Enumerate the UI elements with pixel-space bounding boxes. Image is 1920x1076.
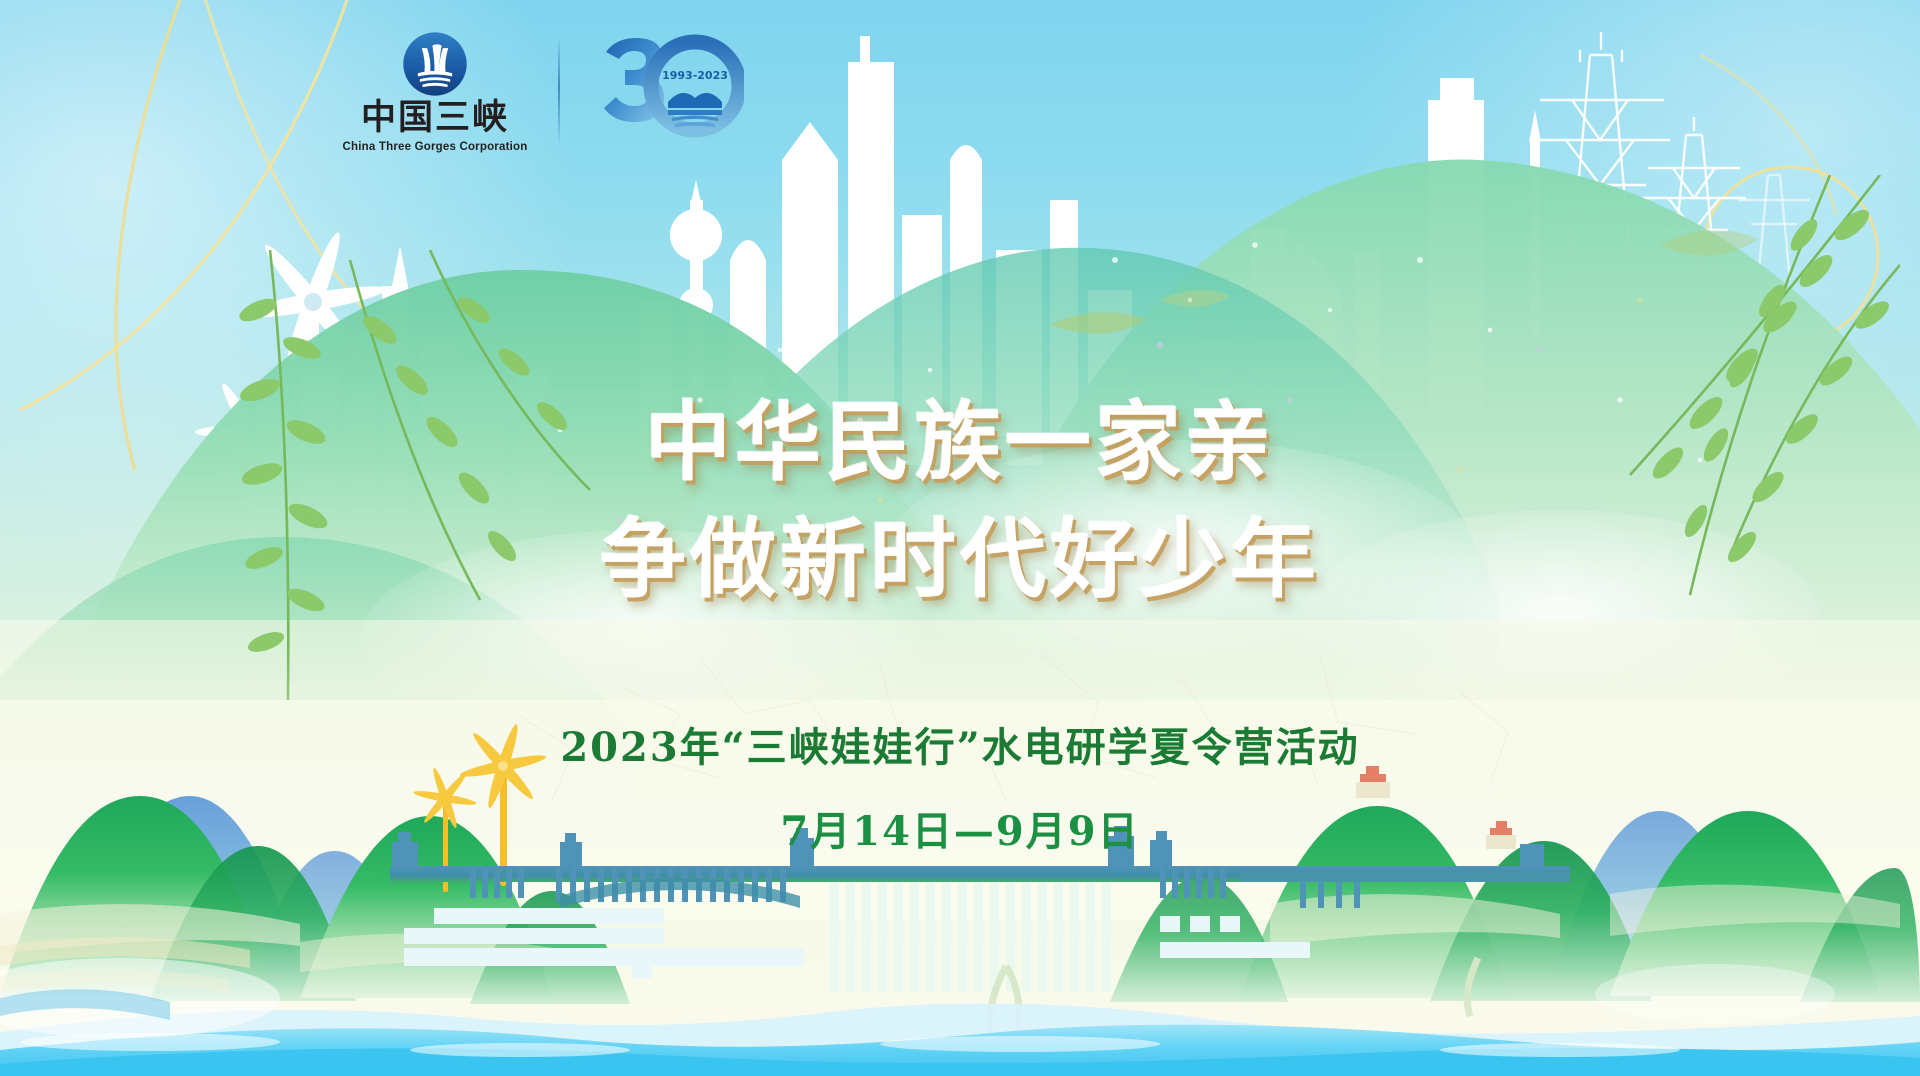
poster-canvas: 中国三峡 China Three Gorges Corporation bbox=[0, 0, 1920, 1076]
paper-texture bbox=[0, 646, 1920, 1076]
header-divider bbox=[558, 36, 560, 148]
ctg-logo[interactable]: 中国三峡 China Three Gorges Corporation bbox=[340, 31, 530, 153]
anniversary-years-text: 1993-2023 bbox=[662, 69, 728, 82]
ship-lock bbox=[990, 958, 1478, 1038]
event-subtitle: 2023年“三峡娃娃行”水电研学夏令营活动 bbox=[0, 715, 1920, 773]
river-foam bbox=[0, 1003, 1920, 1076]
three-gorges-dam-emblem-icon bbox=[402, 31, 468, 97]
ctg-name-cn: 中国三峡 bbox=[361, 101, 509, 136]
event-date-range: 7月14日—9月9日 bbox=[0, 799, 1920, 857]
main-title: 中华民族一家亲 争做新时代好少年 bbox=[0, 395, 1920, 609]
foreground-scene bbox=[0, 646, 1920, 1076]
subtitle-block: 2023年“三峡娃娃行”水电研学夏令营活动 7月14日—9月9日 bbox=[0, 715, 1920, 857]
anniversary-logo[interactable]: 1993-2023 bbox=[594, 30, 744, 153]
title-line-2: 争做新时代好少年 bbox=[0, 512, 1920, 609]
title-line-1: 中华民族一家亲 bbox=[0, 395, 1920, 492]
thirty-anniversary-icon: 1993-2023 bbox=[594, 30, 744, 148]
river-water bbox=[0, 1025, 1920, 1076]
header-logos: 中国三峡 China Three Gorges Corporation bbox=[340, 30, 744, 153]
ctg-name-en: China Three Gorges Corporation bbox=[343, 141, 528, 153]
